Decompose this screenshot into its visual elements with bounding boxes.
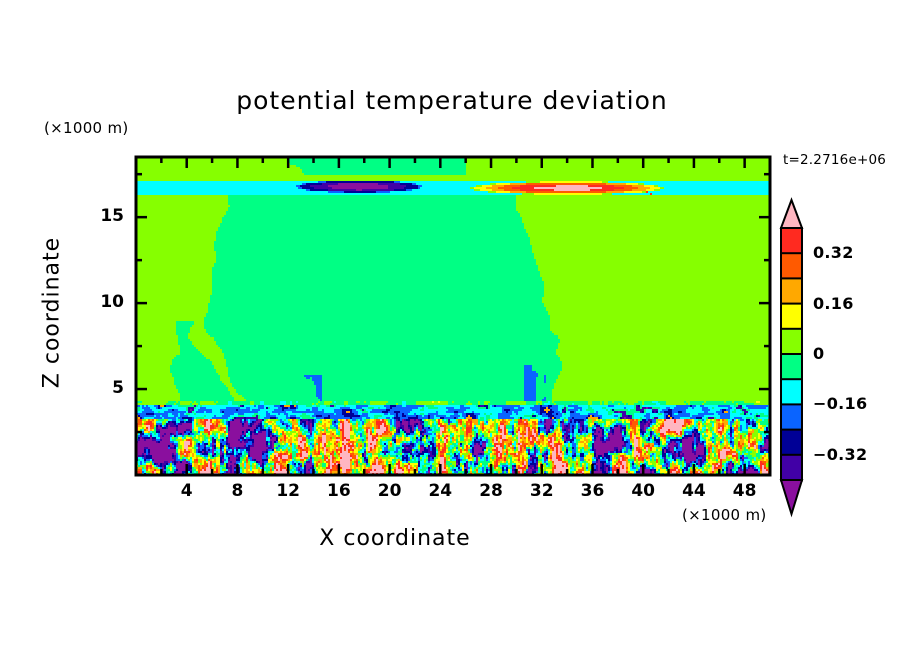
x-tick-label: 16 — [319, 481, 359, 501]
colorbar-band — [781, 278, 802, 304]
x-tick-label: 44 — [674, 481, 714, 501]
colorbar-band — [781, 304, 802, 330]
colorbar-band — [781, 430, 802, 456]
contour-field — [136, 157, 771, 476]
figure-canvas: potential temperature deviation (×1000 m… — [0, 0, 904, 654]
y-tick-label: 10 — [84, 292, 124, 312]
x-tick-label: 36 — [572, 481, 612, 501]
colorbar-band — [781, 455, 802, 481]
colorbar-tick-label: −0.16 — [813, 394, 867, 413]
x-tick-label: 48 — [725, 481, 765, 501]
x-tick-label: 8 — [217, 481, 257, 501]
colorbar-tick-label: 0 — [813, 344, 824, 363]
contour-plot — [0, 0, 904, 654]
colorbar — [781, 200, 802, 514]
x-tick-label: 32 — [522, 481, 562, 501]
colorbar-band — [781, 228, 802, 254]
y-tick-label: 5 — [84, 378, 124, 398]
x-tick-label: 40 — [623, 481, 663, 501]
colorbar-band — [781, 329, 802, 355]
colorbar-tick-label: 0.32 — [813, 243, 854, 262]
colorbar-band — [781, 404, 802, 430]
x-tick-label: 12 — [268, 481, 308, 501]
x-tick-label: 24 — [420, 481, 460, 501]
y-tick-label: 15 — [84, 206, 124, 226]
colorbar-band — [781, 379, 802, 405]
x-tick-label: 20 — [370, 481, 410, 501]
x-tick-label: 4 — [167, 481, 207, 501]
colorbar-cap-high — [781, 200, 802, 228]
colorbar-band — [781, 253, 802, 279]
colorbar-cap-low — [781, 480, 802, 514]
colorbar-tick-label: 0.16 — [813, 294, 854, 313]
colorbar-band — [781, 354, 802, 380]
x-tick-label: 28 — [471, 481, 511, 501]
colorbar-tick-label: −0.32 — [813, 445, 867, 464]
